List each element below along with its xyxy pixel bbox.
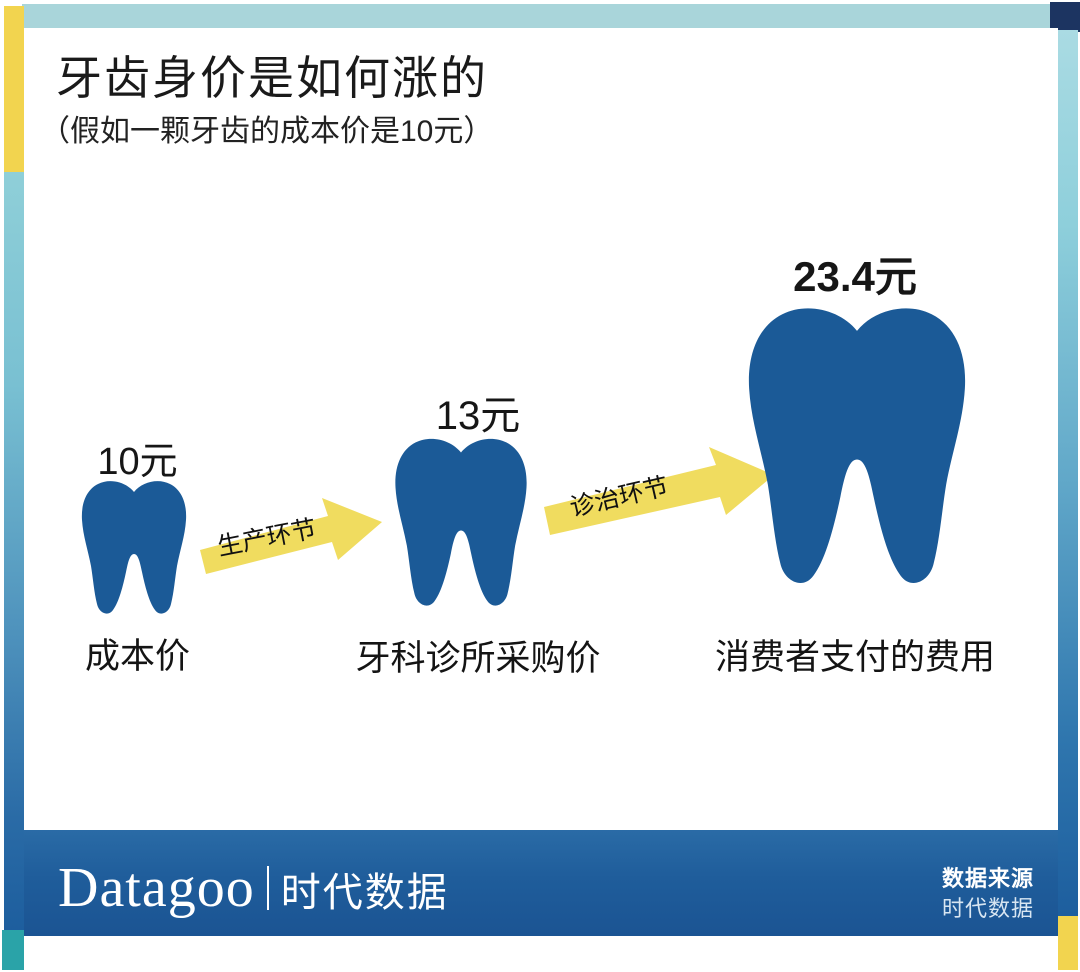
tooth-icon <box>393 433 529 613</box>
stage-value-label: 23.4元 <box>680 243 1030 304</box>
stage-caption: 成本价 <box>35 628 240 679</box>
frame-strip-left-gradient <box>4 172 24 932</box>
frame-strip-left-yellow <box>4 6 24 174</box>
infographic-poster: 牙齿身价是如何涨的 （假如一颗牙齿的成本价是10元） 10元 成本价 生产环节 … <box>0 0 1080 972</box>
page-subtitle: （假如一颗牙齿的成本价是10元） <box>40 106 493 150</box>
stage-caption: 消费者支付的费用 <box>680 629 1030 680</box>
frame-strip-right-gradient <box>1058 30 1078 916</box>
stage-caption: 牙科诊所采购价 <box>338 630 618 681</box>
page-title: 牙齿身价是如何涨的 <box>56 42 488 108</box>
brand-logo-latin: Datagoo <box>58 860 255 916</box>
brand-logo: Datagoo 时代数据 <box>58 860 449 916</box>
data-source-block: 数据来源 时代数据 <box>942 864 1034 923</box>
data-source-title: 数据来源 <box>942 864 1034 894</box>
brand-logo-divider <box>267 866 269 910</box>
stage-value-label: 10元 <box>35 430 240 485</box>
brand-logo-chinese: 时代数据 <box>281 873 449 913</box>
data-source-value: 时代数据 <box>942 894 1034 924</box>
frame-strip-top <box>22 4 1054 28</box>
frame-corner-teal <box>2 930 24 970</box>
tooth-icon <box>745 297 969 597</box>
frame-strip-right-yellow <box>1058 916 1078 970</box>
tooth-icon <box>80 478 188 618</box>
